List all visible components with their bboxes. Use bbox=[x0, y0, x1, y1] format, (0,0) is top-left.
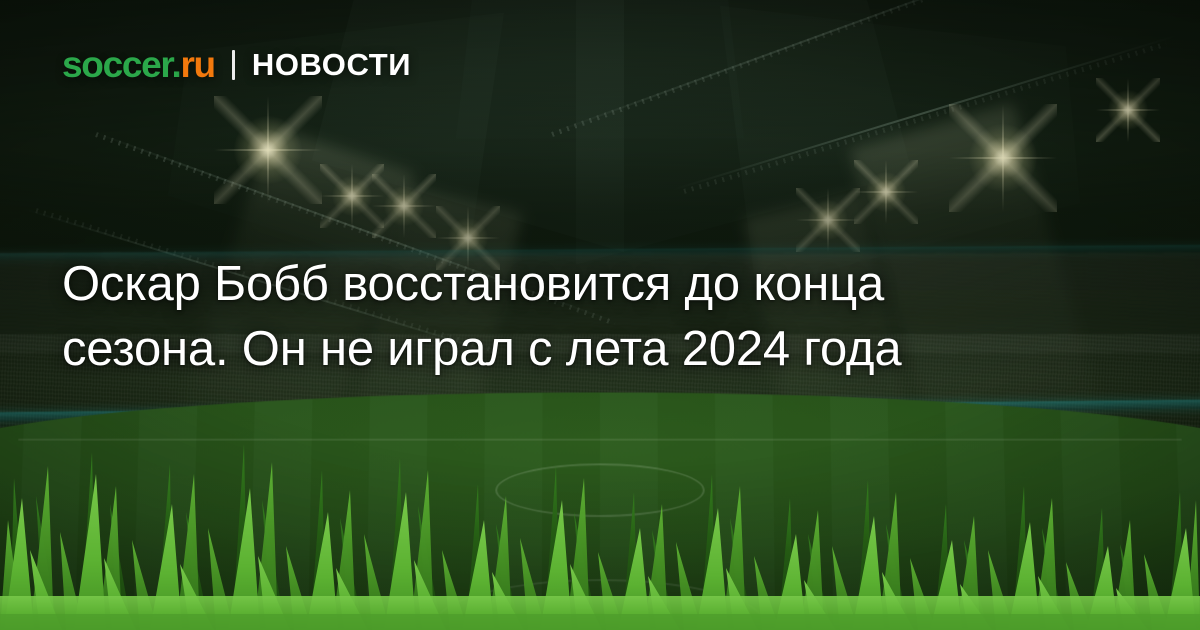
logo-name-part: soccer. bbox=[62, 44, 180, 85]
foreground-grass bbox=[0, 400, 1200, 630]
soccer-ru-logo[interactable]: soccer.ru bbox=[62, 46, 215, 83]
section-label-news[interactable]: НОВОСТИ bbox=[252, 49, 411, 80]
news-share-card: soccer.ru НОВОСТИ Оскар Бобб восстановит… bbox=[0, 0, 1200, 630]
headline-line-2: сезона. Он не играл с лета 2024 года bbox=[62, 317, 1152, 382]
headline-line-1: Оскар Бобб восстановится до конца bbox=[62, 252, 1152, 317]
article-headline: Оскар Бобб восстановится до конца сезона… bbox=[62, 252, 1152, 382]
logo-tld-part: ru bbox=[180, 44, 214, 85]
header-divider bbox=[232, 50, 235, 80]
site-header: soccer.ru НОВОСТИ bbox=[62, 46, 411, 83]
